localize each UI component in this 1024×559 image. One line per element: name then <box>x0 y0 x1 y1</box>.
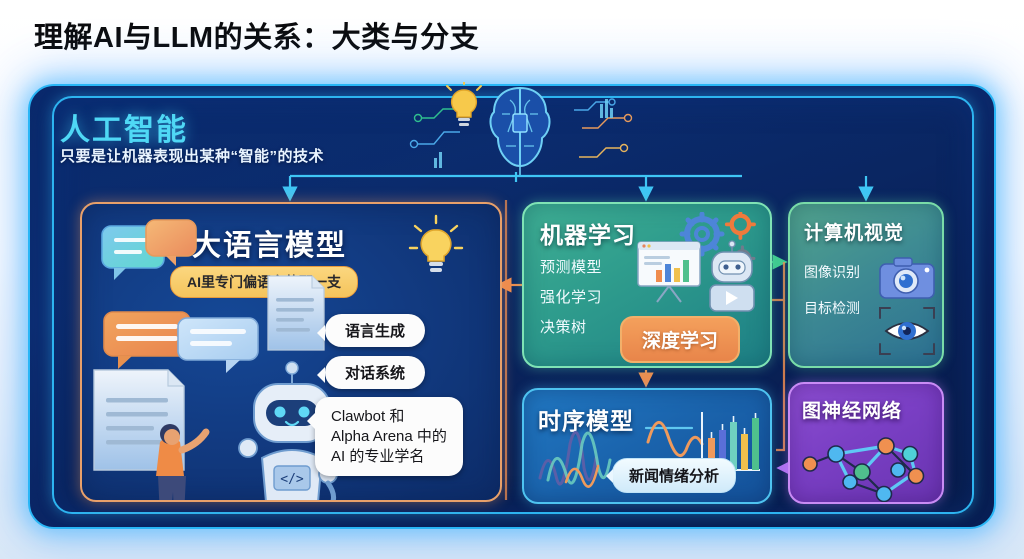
ts-pill: 新闻情绪分析 <box>612 458 736 493</box>
ml-title: 机器学习 <box>540 216 636 250</box>
ml-item-1: 强化学习 <box>540 286 602 307</box>
cv-item-list: 图像识别 目标检测 <box>804 262 860 334</box>
deep-learning-badge[interactable]: 深度学习 <box>620 316 740 363</box>
cv-title: 计算机视觉 <box>804 218 904 245</box>
ts-title: 时序模型 <box>538 402 634 436</box>
ml-item-2: 决策树 <box>540 316 602 337</box>
llm-badge: AI里专门偏语言的那一支 <box>170 266 358 298</box>
speech-bubble-icon <box>104 312 258 373</box>
node-graph-icon <box>800 428 936 502</box>
panel-time-series[interactable]: 时序模型 新闻情绪分析 <box>522 388 772 504</box>
svg-text:</>: </> <box>280 472 304 487</box>
llm-bubble-0: 语言生成 <box>325 314 425 347</box>
panel-graph-neural-network[interactable]: 图神经网络 <box>788 382 944 504</box>
person-icon <box>156 424 206 500</box>
cv-illustration <box>878 252 938 360</box>
chart-board-icon <box>638 242 700 302</box>
gear-icon <box>727 212 754 238</box>
eye-scan-icon <box>880 308 934 354</box>
camera-icon <box>880 258 934 298</box>
lightbulb-icon <box>410 216 462 272</box>
robot-icon <box>710 241 754 311</box>
panel-llm[interactable]: 大语言模型 AI里专门偏语言的那一支 <box>80 202 502 502</box>
gnn-title: 图神经网络 <box>802 396 902 423</box>
llm-bubble-1: 对话系统 <box>325 356 425 389</box>
panel-machine-learning[interactable]: 机器学习 预测模型 强化学习 决策树 <box>522 202 772 368</box>
gear-icon <box>731 247 754 270</box>
gear-icon <box>682 214 722 254</box>
cv-item-0: 图像识别 <box>804 262 860 282</box>
llm-bubble-2: Clawbot 和 Alpha Arena 中的 AI 的专业学名 <box>315 397 463 476</box>
llm-title: 大语言模型 <box>192 222 347 264</box>
document-icon <box>94 370 184 470</box>
ml-item-list: 预测模型 强化学习 决策树 <box>540 256 602 346</box>
panel-computer-vision[interactable]: 计算机视觉 图像识别 目标检测 <box>788 202 944 368</box>
ml-illustration <box>636 212 772 320</box>
cv-item-1: 目标检测 <box>804 298 860 318</box>
ml-item-0: 预测模型 <box>540 256 602 277</box>
